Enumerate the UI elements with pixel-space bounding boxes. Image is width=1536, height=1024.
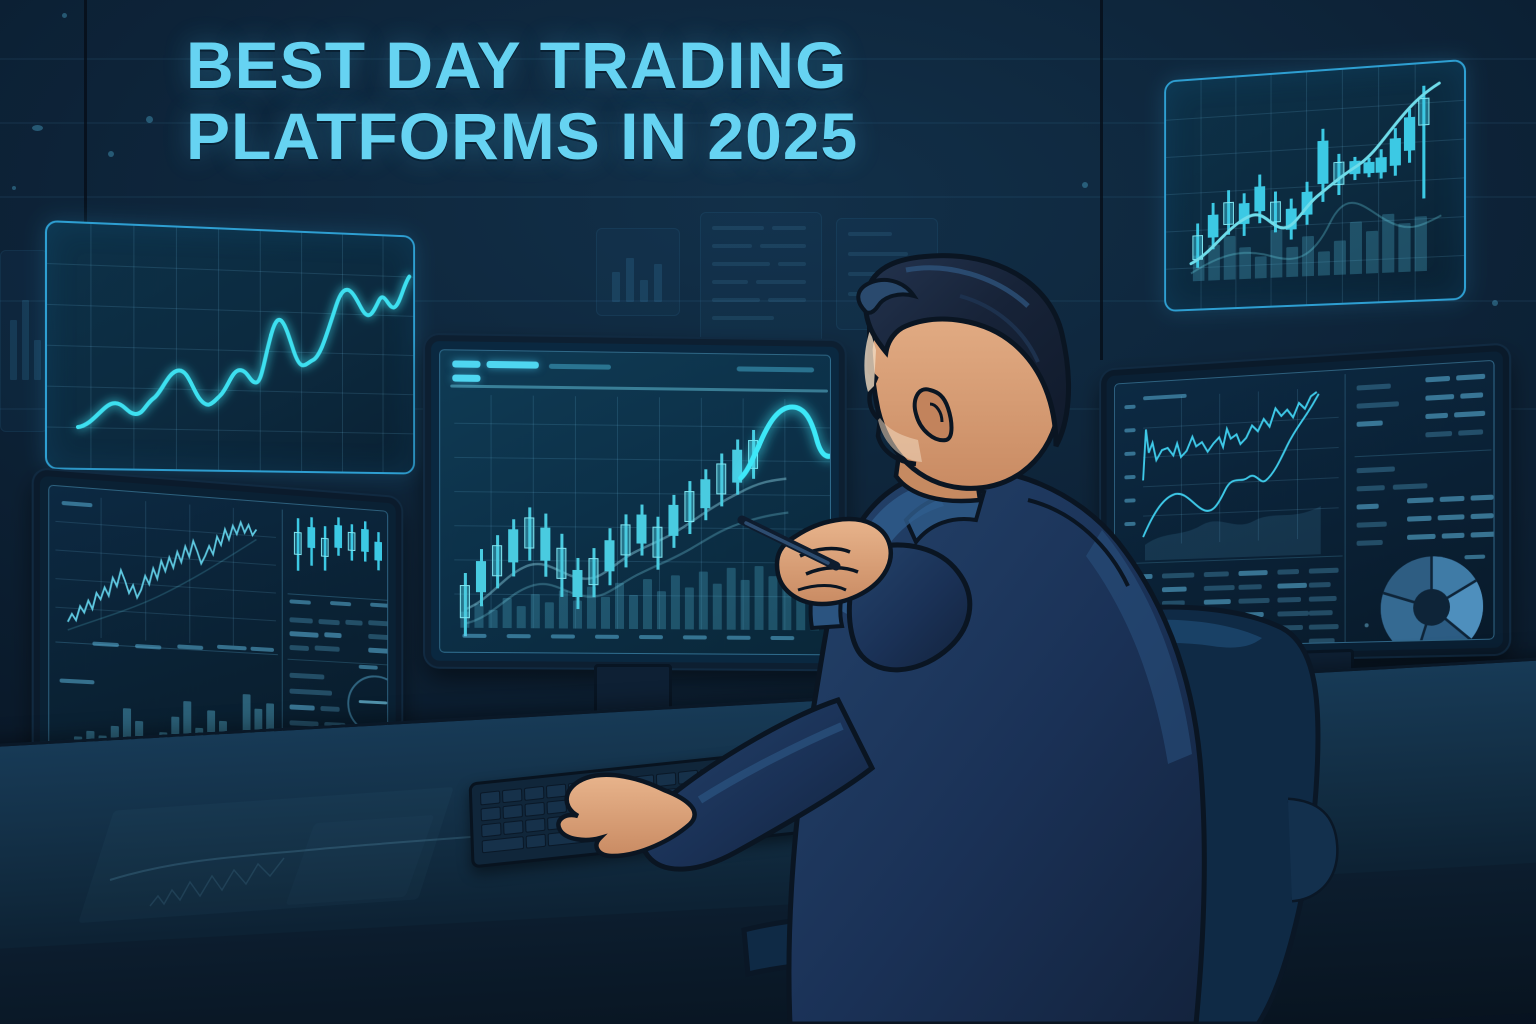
toolbar-chip[interactable] [487,361,539,369]
poster-canvas: BEST DAY TRADING PLATFORMS IN 2025 [0,0,1536,1024]
candlestick-series [440,378,831,655]
candlestick-mini [290,512,389,599]
background-panel [700,212,822,344]
donut-chart [1379,552,1485,648]
monitor-center-candlestick[interactable] [425,335,845,669]
screen-right-dashboard[interactable] [1114,360,1494,648]
line-series [47,222,413,472]
title-line-1: BEST DAY TRADING [186,30,1086,101]
toolbar-chip[interactable] [737,366,814,372]
wall-display-top-right[interactable] [1164,59,1466,312]
title-line-2: PLATFORMS IN 2025 [186,101,1086,172]
candlestick-series [1166,61,1464,310]
price-line-series [55,490,285,656]
background-panel [596,228,680,316]
wall-display-top-left[interactable] [45,220,415,475]
page-title: BEST DAY TRADING PLATFORMS IN 2025 [186,30,1086,173]
toolbar-chip[interactable] [452,360,480,367]
screen-center[interactable] [439,349,831,655]
monitor-right-dashboard[interactable] [1101,344,1509,662]
dual-line-series [1115,376,1343,575]
toolbar-chip[interactable] [549,364,611,370]
